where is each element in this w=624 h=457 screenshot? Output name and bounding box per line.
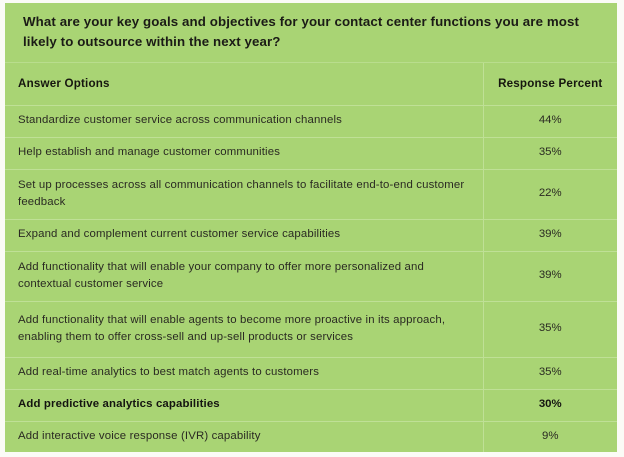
column-header-answer-options: Answer Options: [5, 63, 483, 105]
response-percent-cell: 35%: [483, 357, 617, 389]
answer-option-cell: Expand and complement current customer s…: [5, 219, 483, 251]
response-percent-cell: 30%: [483, 389, 617, 421]
table-row-highlighted: Add predictive analytics capabilities 30…: [5, 389, 617, 421]
table-body: Standardize customer service across comm…: [5, 105, 617, 452]
response-percent-cell: 22%: [483, 169, 617, 219]
response-percent-cell: 39%: [483, 219, 617, 251]
response-percent-cell: 44%: [483, 105, 617, 137]
response-percent-cell: 9%: [483, 421, 617, 452]
response-percent-cell: 35%: [483, 137, 617, 169]
table-row: Add functionality that will enable agent…: [5, 301, 617, 357]
table-row: Standardize customer service across comm…: [5, 105, 617, 137]
answer-option-cell: Standardize customer service across comm…: [5, 105, 483, 137]
table-row: Expand and complement current customer s…: [5, 219, 617, 251]
answer-option-cell: Add predictive analytics capabilities: [5, 389, 483, 421]
table-header: Answer Options Response Percent: [5, 63, 617, 105]
survey-results-card: What are your key goals and objectives f…: [5, 3, 617, 452]
table-row: Add real-time analytics to best match ag…: [5, 357, 617, 389]
column-header-response-percent: Response Percent: [483, 63, 617, 105]
table-header-row: Answer Options Response Percent: [5, 63, 617, 105]
answer-option-cell: Add interactive voice response (IVR) cap…: [5, 421, 483, 452]
response-percent-cell: 35%: [483, 301, 617, 357]
answer-option-cell: Add real-time analytics to best match ag…: [5, 357, 483, 389]
table-row: Add interactive voice response (IVR) cap…: [5, 421, 617, 452]
table-row: Help establish and manage customer commu…: [5, 137, 617, 169]
page-title: What are your key goals and objectives f…: [23, 12, 599, 52]
survey-question-header: What are your key goals and objectives f…: [5, 3, 617, 63]
answer-option-cell: Add functionality that will enable your …: [5, 251, 483, 301]
answer-option-cell: Add functionality that will enable agent…: [5, 301, 483, 357]
answer-option-cell: Set up processes across all communicatio…: [5, 169, 483, 219]
table-row: Set up processes across all communicatio…: [5, 169, 617, 219]
table-row: Add functionality that will enable your …: [5, 251, 617, 301]
survey-results-figure: What are your key goals and objectives f…: [0, 0, 624, 457]
survey-results-table: Answer Options Response Percent Standard…: [5, 63, 617, 452]
response-percent-cell: 39%: [483, 251, 617, 301]
answer-option-cell: Help establish and manage customer commu…: [5, 137, 483, 169]
